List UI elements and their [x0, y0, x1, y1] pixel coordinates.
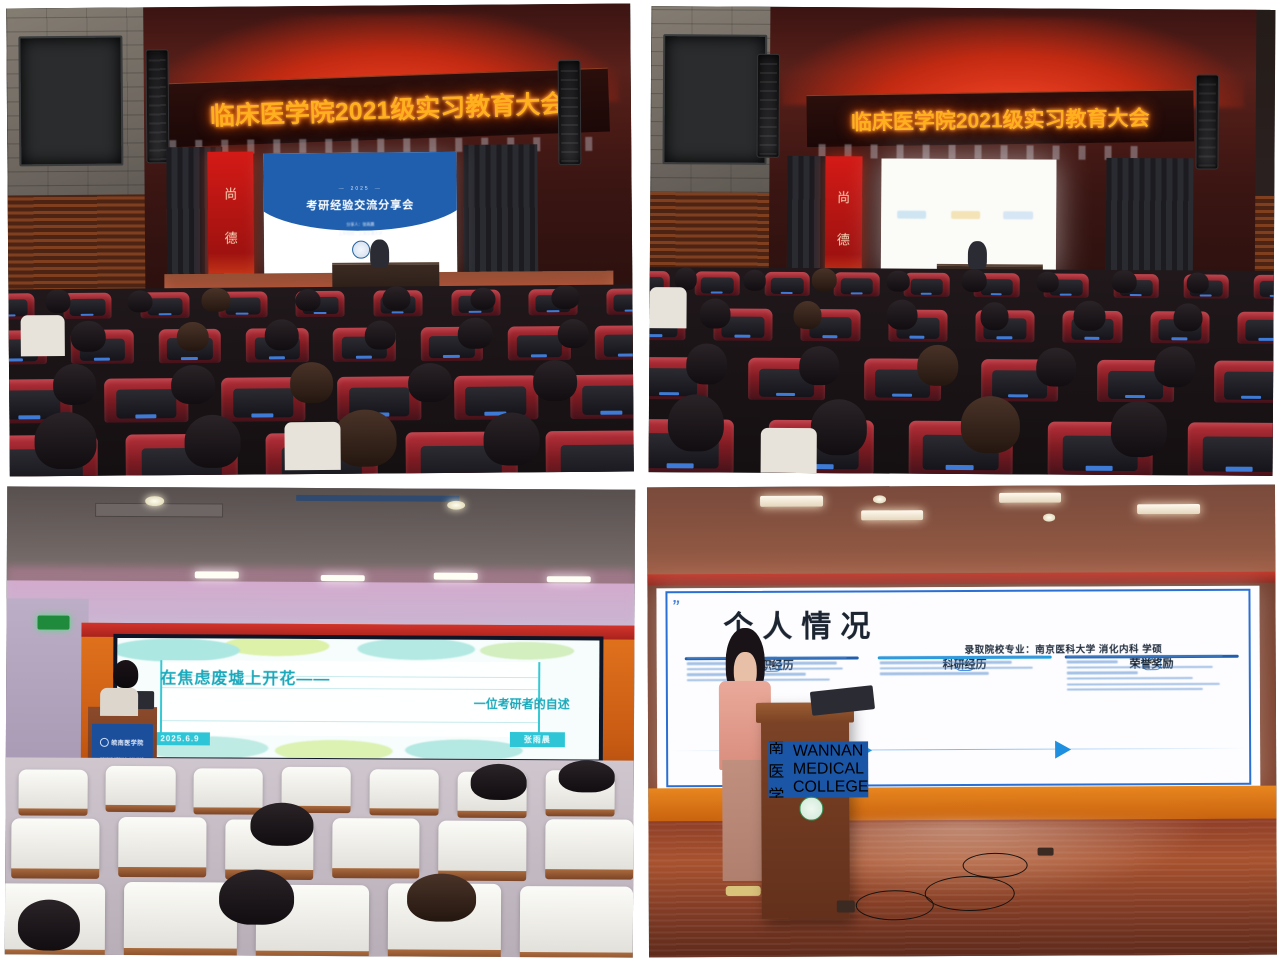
seated-presenter [968, 241, 987, 269]
column-body-lines [880, 655, 1050, 678]
cable-box [837, 900, 855, 912]
photo-panel-top-left[interactable]: 临床医学院2021级实习教育大会 尚 德 2025 考研经验交流分享会 分享人：… [6, 4, 634, 477]
led-banner-text: 临床医学院2021级实习教育大会 [851, 102, 1150, 136]
ceiling [647, 485, 1275, 577]
calligraphy-char-2: 德 [825, 229, 863, 248]
university-emblem-icon [352, 241, 370, 259]
ceiling-light-strip [861, 510, 924, 521]
podium-seal-emblem [799, 797, 823, 821]
podium-sign-cn: 皖南医学院 [768, 742, 793, 799]
photo-panel-bottom-left[interactable]: 在焦虑废墟上开花—— 一位考研者的自述 2025.6.9 张雨晨 皖南医学院 W… [5, 486, 635, 957]
audience-area [8, 284, 633, 476]
slide-cover: 在焦虑废墟上开花—— 一位考研者的自述 2025.6.9 张雨晨 [117, 638, 599, 759]
line-array-speaker-right [1195, 75, 1219, 170]
wall-display-panel [663, 34, 768, 164]
podium-sign: 皖南医学院 WANNAN MEDICAL COLLEGE [768, 742, 868, 799]
slide-title: 考研经验交流分享会 [263, 196, 457, 214]
ceiling-light-strip [1137, 504, 1200, 515]
ceiling-light-tube [321, 575, 365, 582]
slide-admission-line: 录取院校专业：南京医科大学 消化内科 学硕 [965, 641, 1163, 656]
line-array-speaker-left [757, 53, 781, 158]
presenter-head [113, 660, 138, 688]
arrow-icon [1055, 740, 1071, 758]
slide-tab-2 [951, 211, 981, 219]
ceiling-light-tube [195, 572, 239, 579]
led-wall: 在焦虑废墟上开花—— 一位考研者的自述 2025.6.9 张雨晨 [113, 634, 603, 763]
slide-title: 在焦虑废墟上开花—— [160, 665, 330, 690]
audience-area [649, 267, 1274, 476]
podium-sign-cn: 皖南医学院 [111, 738, 144, 747]
slide-column-research: 🔬 科研经历 [874, 655, 1055, 656]
ceiling-light-strip [999, 493, 1062, 504]
floor-cable [963, 852, 1028, 878]
slide-tab-1 [897, 210, 927, 218]
presenter-shoes [726, 886, 761, 897]
ceiling-light-tube [547, 576, 591, 583]
slide-cover: 2025 考研经验交流分享会 分享人：张雨晨 上岸院校：上海交通大学 [263, 152, 457, 275]
ceiling-light-tube [434, 573, 478, 580]
photo-panel-top-right[interactable]: 临床医学院2021级实习教育大会 尚 德 [649, 6, 1276, 476]
slide-presenter-badge: 张雨晨 [510, 732, 565, 747]
led-banner-text: 临床医学院2021级实习教育大会 [209, 84, 566, 133]
led-banner: 临床医学院2021级实习教育大会 [806, 89, 1194, 147]
podium-sign: 皖南医学院 WANNAN MEDICAL COLLEGE [92, 724, 153, 761]
calligraphy-char-2: 德 [208, 227, 255, 246]
photo-panel-bottom-right[interactable]: ” 个人情况 录取院校专业：南京医科大学 消化内科 学硕 💼 任职经历 🔬 科研… [647, 485, 1277, 958]
slide-speaker-line: 分享人：张雨晨 [264, 220, 457, 228]
slide-column-honors: 🏅 荣誉奖励 [1061, 655, 1242, 656]
wall-display-panel [19, 36, 124, 167]
column-body-lines [1066, 655, 1236, 695]
slide-subtitle: 一位考研者的自述 [474, 695, 570, 713]
seated-presenter [370, 239, 389, 267]
ceiling-light-strip [760, 496, 823, 507]
line-array-speaker-right [557, 60, 581, 165]
floor-microphone [1038, 847, 1054, 855]
slide-tab-3 [1003, 211, 1033, 219]
podium-sign-en: WANNAN MEDICAL COLLEGE [793, 743, 869, 797]
slide-school-line: 上岸院校：上海交通大学 [264, 230, 457, 238]
calligraphy-char-1: 尚 [825, 187, 863, 206]
slide-date-badge: 2025.6.9 [150, 732, 209, 745]
presenter-body [100, 688, 138, 716]
ceiling-dark-strip [296, 495, 459, 501]
ceiling-spot-light [873, 496, 886, 504]
projection-screen: 2025 考研经验交流分享会 分享人：张雨晨 上岸院校：上海交通大学 [263, 152, 457, 275]
university-logo-icon [100, 738, 109, 747]
ceiling-spot-light [1043, 514, 1056, 522]
calligraphy-char-1: 尚 [207, 184, 254, 203]
white-covered-seats-area [5, 758, 634, 958]
photo-collage: 临床医学院2021级实习教育大会 尚 德 2025 考研经验交流分享会 分享人：… [0, 0, 1280, 960]
exit-sign-icon [38, 615, 69, 629]
ceiling-downlight [145, 496, 164, 505]
